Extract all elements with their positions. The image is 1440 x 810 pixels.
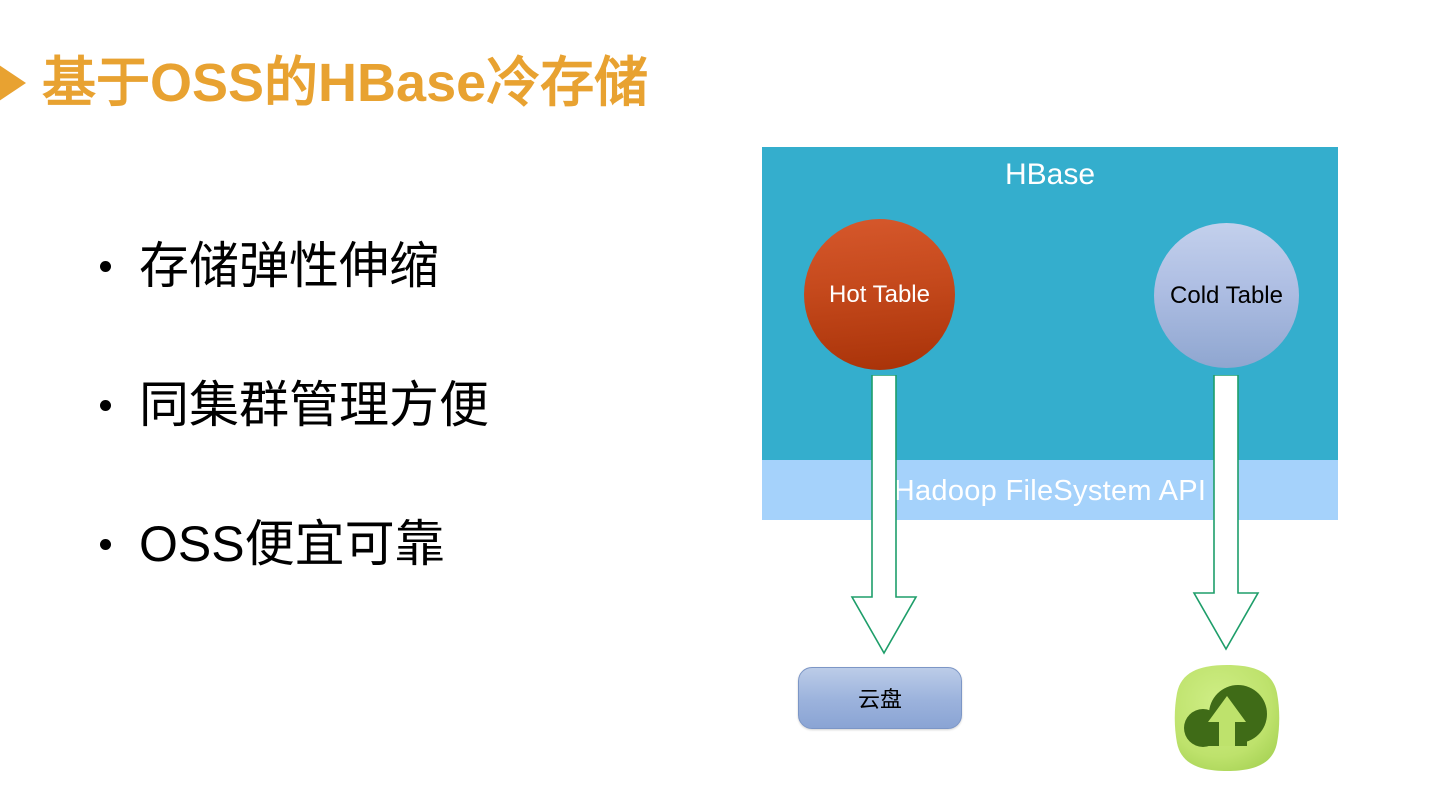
triangle-right-icon (0, 57, 28, 109)
list-item: 同集群管理方便 (94, 365, 694, 445)
architecture-diagram: HBase Hot Table Cold Table Hadoop FileSy… (762, 147, 1338, 787)
bullet-text: 存储弹性伸缩 (139, 241, 439, 291)
hbase-label: HBase (762, 157, 1338, 193)
bullet-text: OSS便宜可靠 (139, 519, 445, 569)
bullet-list: 存储弹性伸缩 同集群管理方便 OSS便宜可靠 (94, 226, 694, 643)
hot-table-label: Hot Table (829, 283, 930, 307)
oss-cloud-upload-icon (1172, 662, 1282, 774)
list-item: 存储弹性伸缩 (94, 226, 694, 306)
arrow-cold-to-oss-icon (1186, 375, 1266, 653)
cloud-disk-node: 云盘 (798, 667, 962, 729)
bullet-text: 同集群管理方便 (139, 380, 489, 430)
page-title: 基于OSS的HBase冷存储 (42, 56, 648, 110)
bullet-dot-icon (100, 400, 111, 411)
cloud-disk-label: 云盘 (858, 682, 902, 714)
slide-title-row: 基于OSS的HBase冷存储 (0, 48, 648, 118)
hot-table-node: Hot Table (804, 219, 955, 370)
cold-table-node: Cold Table (1154, 223, 1299, 368)
arrow-hot-to-cloud-disk-icon (844, 375, 924, 657)
bullet-dot-icon (100, 539, 111, 550)
bullet-dot-icon (100, 261, 111, 272)
cold-table-label: Cold Table (1170, 284, 1283, 308)
list-item: OSS便宜可靠 (94, 504, 694, 584)
